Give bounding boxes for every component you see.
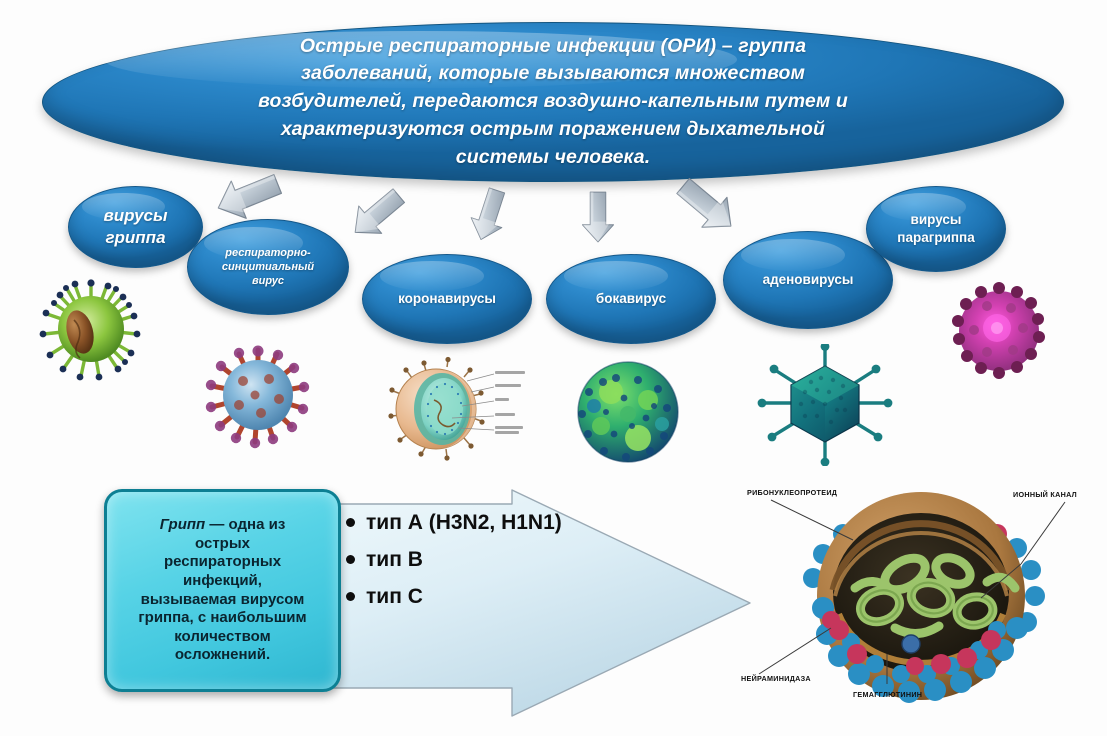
influenza-definition-text: Грипп — одна из острых респираторных инф… <box>128 512 316 669</box>
title-text: Острые респираторные инфекции (ОРИ) – гр… <box>223 33 883 171</box>
category-ellipse-influenza[interactable]: вирусы гриппа <box>68 186 203 268</box>
category-label-influenza-line2: гриппа <box>105 228 165 247</box>
category-label-coronavirus: коронавирусы <box>388 290 506 308</box>
definition-line3: респираторных <box>164 553 281 570</box>
category-label-influenza: вирусы гриппа <box>93 205 177 249</box>
category-label-rsv-line3: вирус <box>252 275 284 287</box>
definition-line7: количеством <box>174 628 270 645</box>
category-label-parainfluenza-line2: парагриппа <box>897 230 974 245</box>
flow-arrow-4-icon <box>570 192 626 242</box>
definition-emphasis: Грипп <box>160 516 205 533</box>
category-label-rsv: респираторно- синцитиальный вирус <box>212 246 324 289</box>
category-label-rsv-line1: респираторно- <box>225 247 310 259</box>
title-line-2: заболеваний, которые вызываются множеств… <box>223 60 883 88</box>
category-ellipse-parainfluenza[interactable]: вирусы парагриппа <box>866 186 1006 272</box>
flu-label-ion-channel: ИОННЫЙ КАНАЛ <box>1013 490 1077 499</box>
title-line-5: системы человека. <box>223 144 883 172</box>
definition-line5: вызываемая вирусом <box>141 591 305 608</box>
definition-line1-rest: — одна из <box>205 516 285 533</box>
title-line-4: характеризуются острым поражением дыхате… <box>223 116 883 144</box>
category-label-parainfluenza: вирусы парагриппа <box>887 211 984 246</box>
title-line-3: возбудителей, передаются воздушно-капель… <box>223 88 883 116</box>
flow-arrow-3-icon <box>460 190 518 240</box>
flu-label-ribonucleoprotein: РИБОНУКЛЕОПРОТЕИД <box>747 488 837 497</box>
category-label-parainfluenza-line1: вирусы <box>911 212 962 227</box>
definition-line2: острых <box>195 535 250 552</box>
list-item-type-b-label: тип B <box>366 547 423 572</box>
bullet-icon <box>346 555 355 564</box>
flow-arrow-2-icon <box>345 190 409 238</box>
category-ellipse-adenovirus[interactable]: аденовирусы <box>723 231 893 329</box>
flu-label-hemagglutinin: ГЕМАГГЛЮТИНИН <box>853 690 922 699</box>
rsv-virus-image <box>199 341 317 449</box>
list-item-type-c: тип C <box>346 584 636 609</box>
flu-types-list: тип А (H3N2, H1N1) тип B тип C <box>346 510 636 622</box>
list-item-type-a-label: тип А (H3N2, H1N1) <box>366 510 562 535</box>
category-label-adenovirus: аденовирусы <box>753 271 864 289</box>
category-ellipse-bocavirus[interactable]: бокавирус <box>546 254 716 344</box>
coronavirus-cross-section-image <box>372 356 532 464</box>
category-label-bocavirus: бокавирус <box>586 290 676 308</box>
influenza-virus-image <box>33 276 149 382</box>
category-ellipse-coronavirus[interactable]: коронавирусы <box>362 254 532 344</box>
definition-line6: гриппа, с наибольшим <box>138 609 306 626</box>
category-label-influenza-line1: вирусы <box>103 206 167 225</box>
flow-arrow-5-icon <box>672 180 742 232</box>
bocavirus-image <box>566 356 690 468</box>
list-item-type-b: тип B <box>346 547 636 572</box>
influenza-definition-box: Грипп — одна из острых респираторных инф… <box>104 489 341 692</box>
flu-types-arrow: тип А (H3N2, H1N1) тип B тип C <box>322 488 752 718</box>
list-item-type-a: тип А (H3N2, H1N1) <box>346 510 636 535</box>
title-line-1: Острые респираторные инфекции (ОРИ) – гр… <box>223 33 883 61</box>
category-ellipse-rsv[interactable]: респираторно- синцитиальный вирус <box>187 219 349 315</box>
definition-line4: инфекций, <box>183 572 262 589</box>
definition-line8: осложнений. <box>175 646 270 663</box>
poster-canvas: Острые респираторные инфекции (ОРИ) – гр… <box>0 0 1107 736</box>
bullet-icon <box>346 592 355 601</box>
list-item-type-c-label: тип C <box>366 584 423 609</box>
influenza-structure-diagram: РИБОНУКЛЕОПРОТЕИД ИОННЫЙ КАНАЛ НЕЙРАМИНИ… <box>735 478 1107 708</box>
adenovirus-image <box>755 344 895 466</box>
flow-arrow-1-icon <box>212 172 284 220</box>
bullet-icon <box>346 518 355 527</box>
category-label-rsv-line2: синцитиальный <box>222 261 314 273</box>
parainfluenza-virus-image <box>941 276 1057 386</box>
title-ellipse: Острые респираторные инфекции (ОРИ) – гр… <box>42 22 1064 182</box>
